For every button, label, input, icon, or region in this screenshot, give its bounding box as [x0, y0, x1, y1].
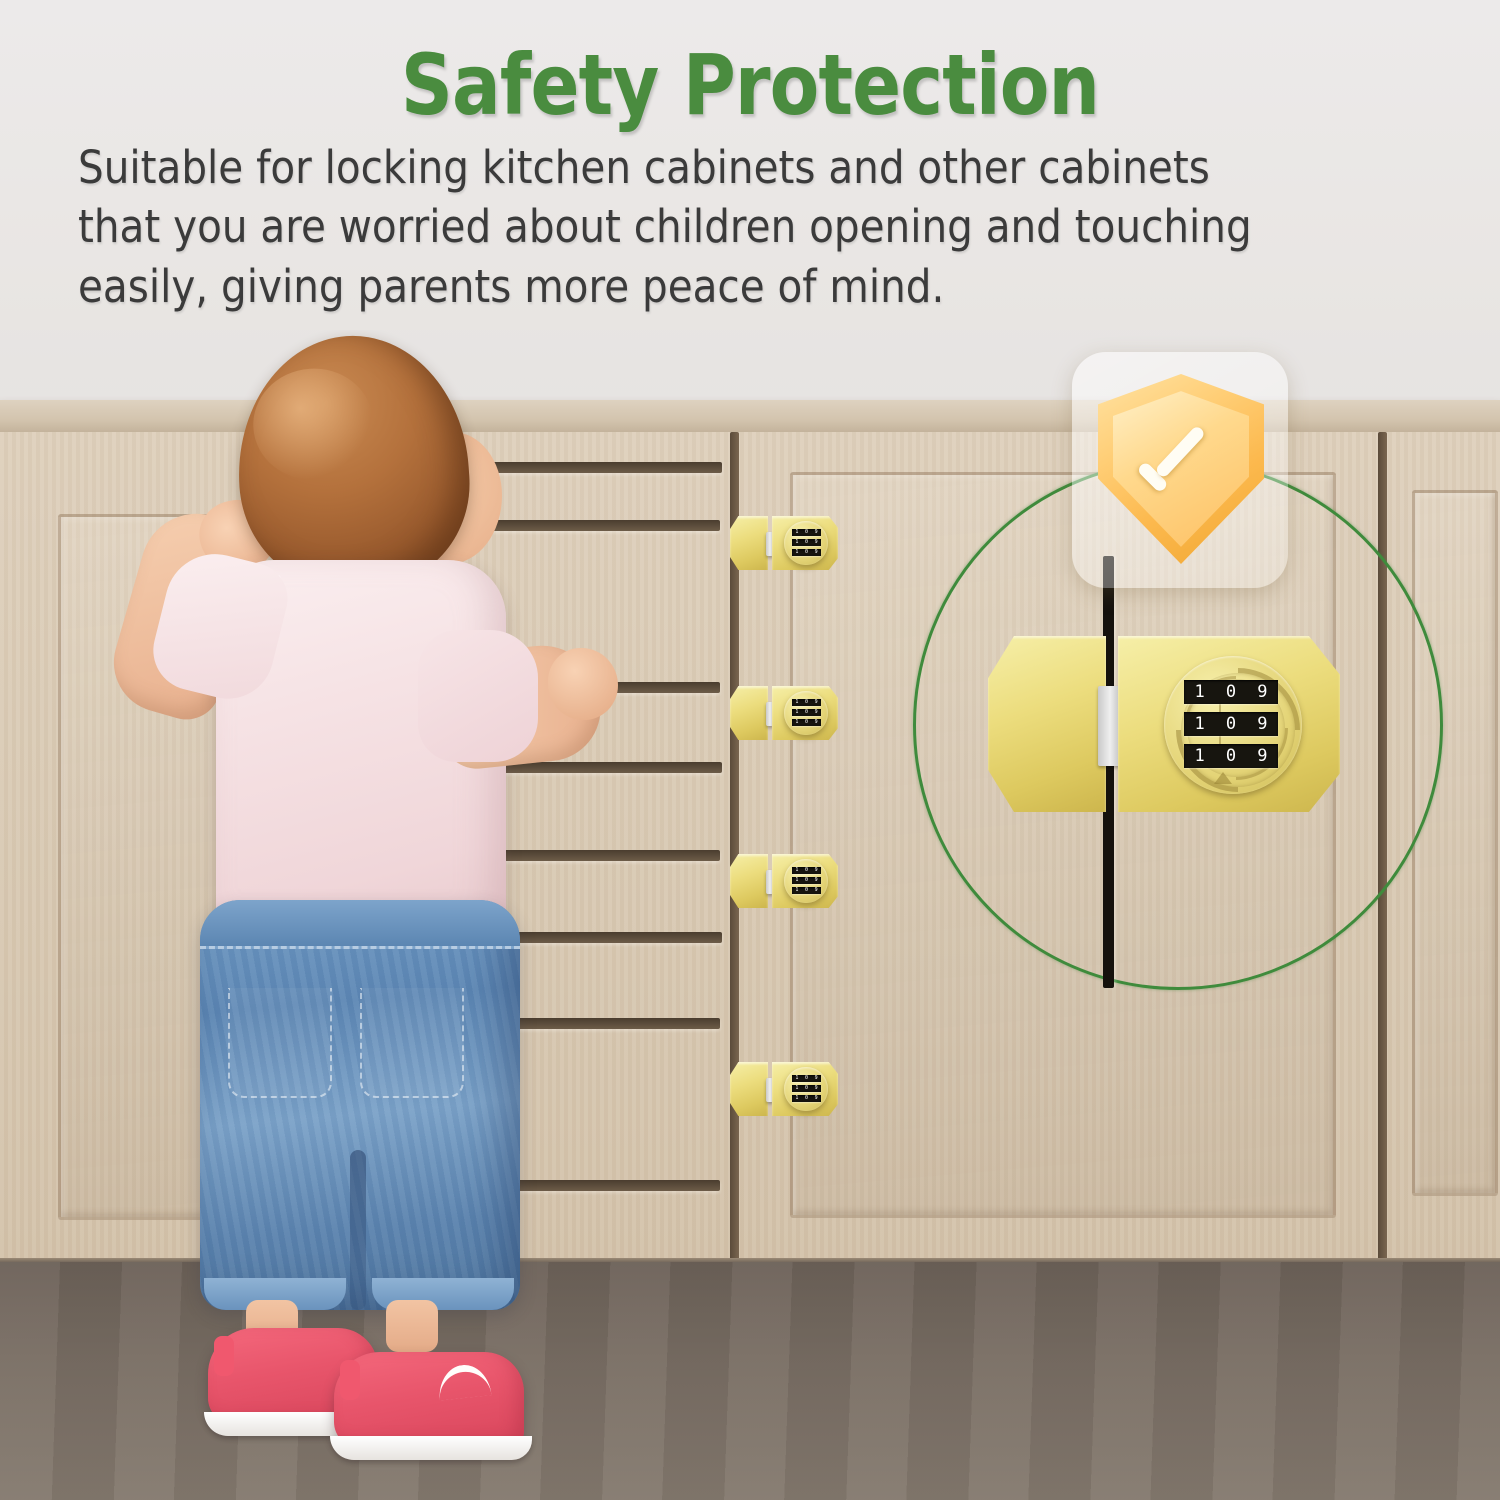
lock-wing-plate [730, 516, 768, 570]
child-right-hand [548, 648, 618, 720]
dial-window-3[interactable]: 1 0 9 [1184, 744, 1278, 768]
shoe-heel-tab [214, 1336, 234, 1376]
dial-digit: 0 [1226, 684, 1236, 701]
dial-digit: 9 [1257, 748, 1267, 765]
dial-digit: 1 [795, 868, 798, 873]
drawer-slot [460, 462, 722, 473]
dial-window-1[interactable]: 1 0 9 [792, 867, 821, 874]
dial-digit: 0 [805, 1096, 808, 1101]
dial-digit: 1 [795, 540, 798, 545]
dial-digit: 0 [805, 700, 808, 705]
dial-digit: 9 [815, 540, 818, 545]
dial-digit: 9 [815, 720, 818, 725]
dial-digit: 9 [815, 710, 818, 715]
dial-digit: 1 [1195, 716, 1205, 733]
dial-digit: 1 [795, 550, 798, 555]
dial-digit: 0 [805, 530, 808, 535]
dial-window-2[interactable]: 1 0 9 [792, 877, 821, 884]
child-jeans [200, 900, 520, 1310]
jeans-waistband [200, 900, 520, 949]
dial-window-1[interactable]: 1 0 9 [792, 699, 821, 706]
dial-window-3[interactable]: 1 0 9 [792, 719, 821, 726]
cabinet-door-panel-right [1412, 490, 1498, 1196]
lock-wing-plate [730, 1062, 768, 1116]
product-lifestyle-image: 1 0 9 1 0 9 1 0 9 1 [0, 0, 1500, 1500]
cabinet-seam-right [1378, 432, 1387, 1262]
dial-window-3[interactable]: 1 0 9 [792, 549, 821, 556]
shoe-sole [330, 1436, 532, 1460]
dial-digit: 1 [795, 888, 798, 893]
dial-digit: 0 [1226, 748, 1236, 765]
dial-digit: 0 [805, 1076, 808, 1081]
dial-digit: 1 [795, 1086, 798, 1091]
dial-window-2[interactable]: 1 0 9 [1184, 712, 1278, 736]
dial-digit: 1 [795, 710, 798, 715]
dial-digit: 0 [805, 878, 808, 883]
dial-window-3[interactable]: 1 0 9 [792, 887, 821, 894]
jeans-pocket-right [360, 988, 464, 1098]
dial-digit: 1 [795, 878, 798, 883]
installed-lock-4[interactable]: 1 0 9 1 0 9 1 0 9 [730, 1062, 838, 1116]
dial-digit: 0 [805, 868, 808, 873]
lock-wing-plate [988, 636, 1106, 812]
lock-wing-plate [730, 854, 768, 908]
dial-index-marker [1214, 772, 1232, 784]
child-right-sleeve [418, 630, 538, 762]
dial-window-1[interactable]: 1 0 9 [792, 1075, 821, 1082]
dial-digit: 9 [815, 1096, 818, 1101]
dial-digit: 0 [1226, 716, 1236, 733]
dial-digit: 9 [1257, 684, 1267, 701]
featured-combination-lock[interactable]: 1 0 9 1 0 9 1 0 9 [988, 636, 1340, 812]
dial-digit: 9 [815, 868, 818, 873]
dial-digit: 1 [1195, 748, 1205, 765]
dial-window-2[interactable]: 1 0 9 [792, 1085, 821, 1092]
header-banner: Safety Protection Suitable for locking k… [0, 0, 1500, 330]
dial-digit: 9 [815, 550, 818, 555]
installed-lock-1[interactable]: 1 0 9 1 0 9 1 0 9 [730, 516, 838, 570]
dial-window-1[interactable]: 1 0 9 [792, 529, 821, 536]
dial-digit: 0 [805, 550, 808, 555]
installed-lock-2[interactable]: 1 0 9 1 0 9 1 0 9 [730, 686, 838, 740]
jeans-inseam [350, 1150, 366, 1310]
shoe-heel-tab [340, 1360, 360, 1400]
dial-digit: 1 [795, 700, 798, 705]
dial-digit: 9 [815, 700, 818, 705]
dial-digit: 9 [815, 1076, 818, 1081]
dial-digit: 9 [815, 888, 818, 893]
dial-digit: 1 [1195, 684, 1205, 701]
dial-digit: 9 [815, 878, 818, 883]
page-description: Suitable for locking kitchen cabinets an… [78, 138, 1302, 316]
dial-window-1[interactable]: 1 0 9 [1184, 680, 1278, 704]
dial-digit: 0 [805, 888, 808, 893]
jeans-pocket-left [228, 988, 332, 1098]
dial-digit: 9 [815, 1086, 818, 1091]
dial-window-2[interactable]: 1 0 9 [792, 539, 821, 546]
dial-digit: 0 [805, 540, 808, 545]
dial-digit: 9 [1257, 716, 1267, 733]
page-title: Safety Protection [105, 36, 1395, 134]
checkmark-icon [1141, 442, 1221, 491]
child-shoe-right [334, 1352, 524, 1448]
safety-badge [1072, 352, 1288, 588]
lock-wing-plate [730, 686, 768, 740]
dial-digit: 1 [795, 1096, 798, 1101]
dial-window-3[interactable]: 1 0 9 [792, 1095, 821, 1102]
dial-window-2[interactable]: 1 0 9 [792, 709, 821, 716]
dial-digit: 1 [795, 1076, 798, 1081]
child-ankle-right [386, 1300, 438, 1352]
dial-digit: 9 [815, 530, 818, 535]
dial-digit: 0 [805, 710, 808, 715]
dial-digit: 1 [795, 530, 798, 535]
dial-digit: 0 [805, 720, 808, 725]
shoe-laces [436, 1363, 491, 1401]
dial-digit: 1 [795, 720, 798, 725]
dial-digit: 0 [805, 1086, 808, 1091]
installed-lock-3[interactable]: 1 0 9 1 0 9 1 0 9 [730, 854, 838, 908]
